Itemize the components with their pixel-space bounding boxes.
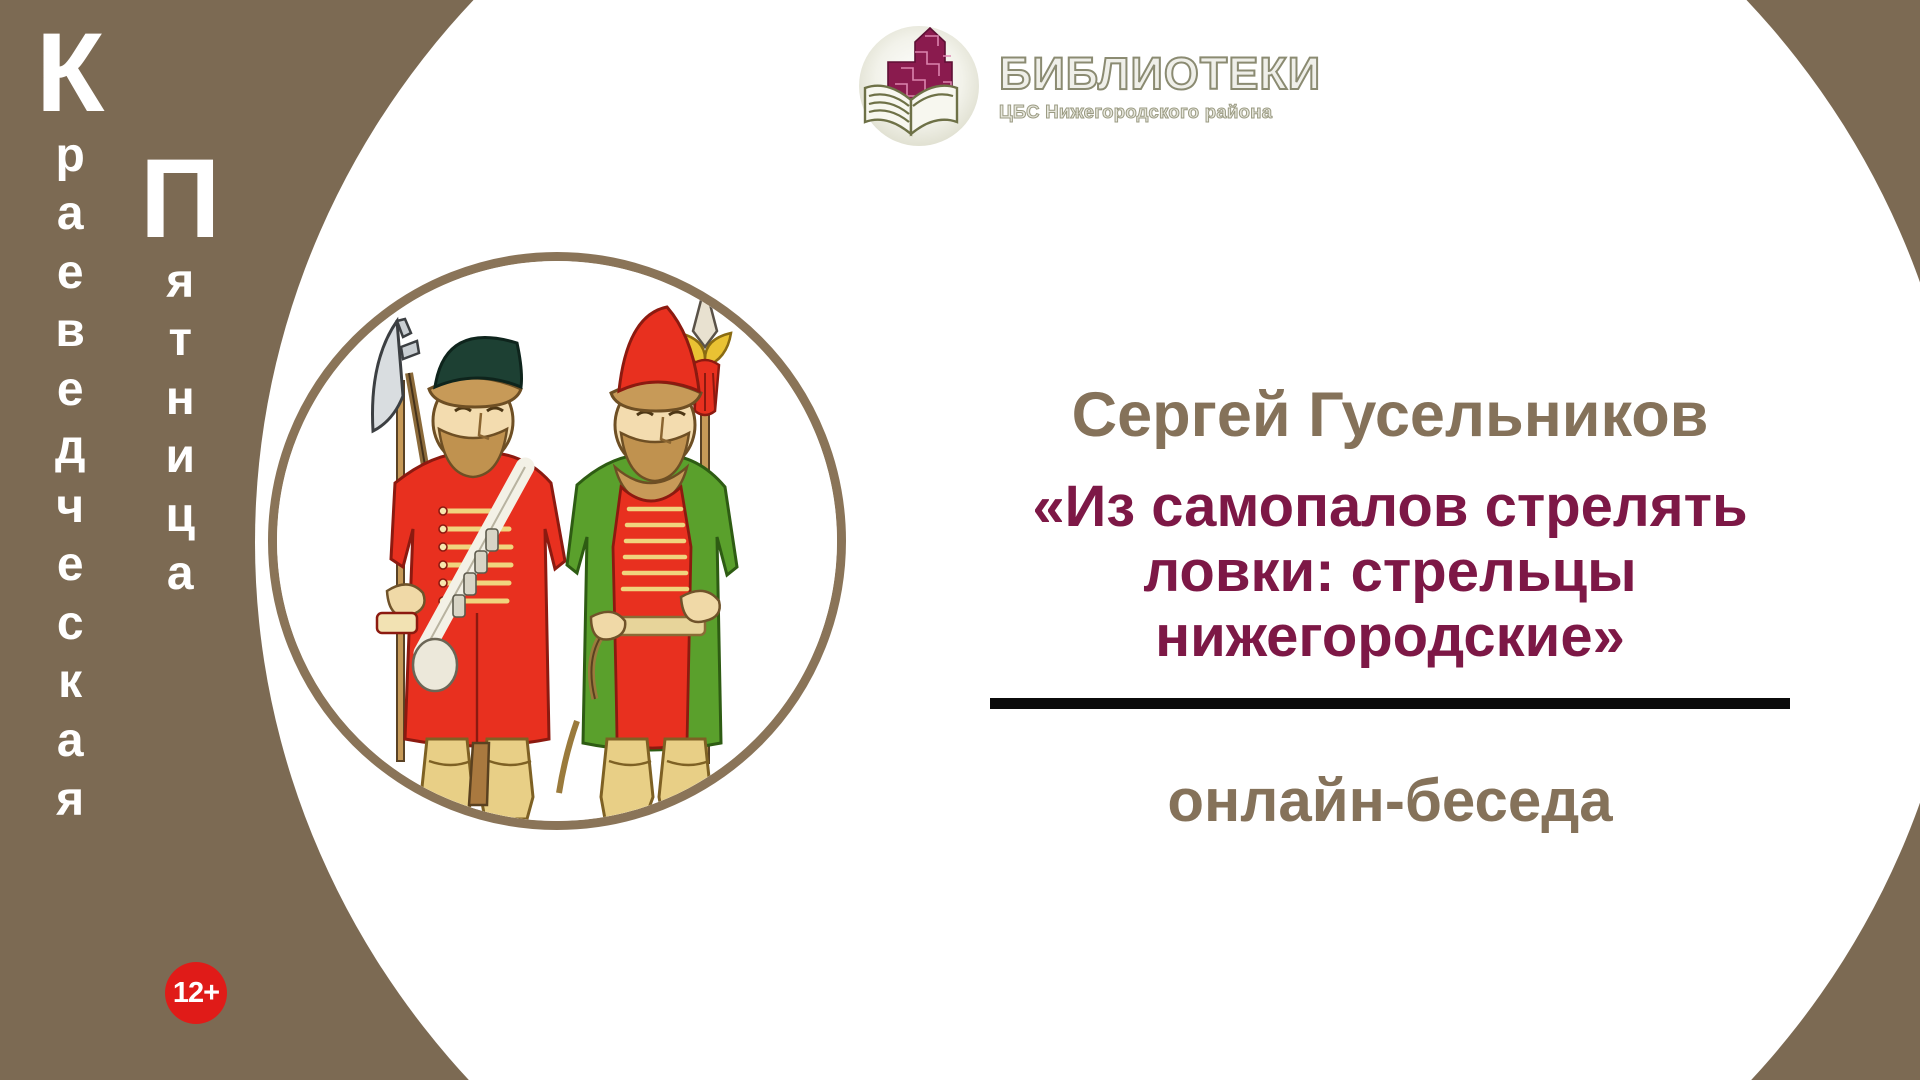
open-book-with-kremlin-tower-logo-icon — [855, 22, 983, 150]
vertical-letter-p3: н — [166, 370, 195, 429]
event-title: «Из самопалов стрелять ловки: стрельцы н… — [980, 475, 1800, 670]
speaker-name: Сергей Гусельников — [980, 382, 1800, 449]
event-text-block: Сергей Гусельников «Из самопалов стрелят… — [980, 382, 1800, 831]
vertical-letter-p0: П — [140, 150, 221, 249]
vertical-letter-11: а — [57, 712, 84, 771]
vertical-letter-p5: ц — [165, 487, 195, 546]
vertical-letter-2: а — [57, 185, 84, 244]
vertical-letter-p6: а — [167, 545, 194, 604]
event-title-line-1: «Из самопалов стрелять — [980, 475, 1800, 540]
poster-canvas: К р а е в е д ч е с к а я П я т н и ц а … — [0, 0, 1920, 1080]
vertical-letter-3: е — [57, 244, 84, 303]
streltsy-illustration-icon — [277, 261, 837, 821]
vertical-letter-0: К — [36, 24, 104, 123]
event-format: онлайн-беседа — [980, 771, 1800, 831]
vertical-letter-p2: т — [168, 311, 192, 370]
vertical-letter-12: я — [56, 771, 84, 830]
library-logo-subtitle: ЦБС Нижегородского района — [999, 103, 1321, 122]
vertical-letter-p4: и — [165, 428, 195, 487]
title-divider-rule — [990, 698, 1790, 709]
vertical-letter-4: в — [55, 302, 85, 361]
vertical-letter-5: е — [57, 361, 84, 420]
streltsy-illustration-circle — [268, 252, 846, 830]
library-logo-text: БИБЛИОТЕКИ ЦБС Нижегородского района — [999, 51, 1321, 122]
vertical-letter-8: е — [57, 536, 84, 595]
age-rating-label: 12+ — [173, 977, 219, 1010]
library-logo: БИБЛИОТЕКИ ЦБС Нижегородского района — [855, 22, 1321, 150]
vertical-letter-p1: я — [166, 253, 194, 312]
vertical-letter-10: к — [58, 653, 82, 712]
event-title-line-3: нижегородские» — [980, 605, 1800, 670]
event-title-line-2: ловки: стрельцы — [980, 540, 1800, 605]
vertical-word-kraevedcheskaya: К р а е в е д ч е с к а я — [36, 24, 104, 829]
vertical-letter-7: ч — [56, 478, 84, 537]
vertical-word-pyatnitsa: П я т н и ц а — [140, 150, 221, 604]
vertical-letter-1: р — [56, 127, 85, 186]
vertical-letter-6: д — [55, 419, 85, 478]
vertical-letter-9: с — [57, 595, 84, 654]
library-logo-title: БИБЛИОТЕКИ — [999, 51, 1321, 96]
age-rating-badge: 12+ — [165, 962, 227, 1024]
